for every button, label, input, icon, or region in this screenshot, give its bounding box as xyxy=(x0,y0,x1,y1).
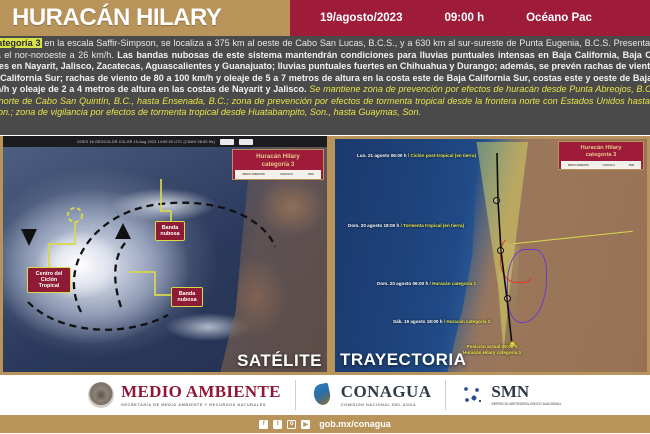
footer-website-url[interactable]: gob.mx/conagua xyxy=(319,419,391,429)
semarnat-logo: MEDIO AMBIENTE SECRETARÍA DE MEDIO AMBIE… xyxy=(74,382,295,408)
page-header: HURACÁN HILARY 19/agosto/2023 09:00 h Oc… xyxy=(0,0,650,36)
trajectory-badge-name: Huracán Hilary xyxy=(561,145,641,152)
track-label-4: Sáb. 19 agosto 18:00 h / Huracán categor… xyxy=(393,319,490,325)
satellite-source-text: GOES 16 GEOCOLOR COLOR 19-Aug 2023 14:50… xyxy=(77,140,215,144)
instagram-icon[interactable]: o xyxy=(287,420,296,429)
header-date: 19/agosto/2023 xyxy=(320,12,402,24)
satellite-badge: Huracán Hilary categoría 3 MEDIO AMBIENT… xyxy=(232,149,324,180)
category-highlight: huracán categoría 3 xyxy=(0,38,42,48)
callout-leaders xyxy=(3,147,329,373)
page-footer: MEDIO AMBIENTE SECRETARÍA DE MEDIO AMBIE… xyxy=(0,375,650,433)
current-position-category: Huracán Hilary categoría 3 xyxy=(463,350,521,356)
track-point-1 xyxy=(493,197,500,204)
satellite-badge-logos: MEDIO AMBIENTE CONAGUA SMN xyxy=(235,170,321,179)
badge-logo-smn: SMN xyxy=(308,173,314,176)
satellite-badge-category: categoría 3 xyxy=(235,161,321,169)
header-title-block: HURACÁN HILARY xyxy=(0,0,290,36)
page-title: HURACÁN HILARY xyxy=(12,4,221,32)
imagery-panels: Centro del Ciclón Tropical Banda nubosa … xyxy=(0,135,650,375)
track-label-3-status: Huracán categoría 1 xyxy=(432,281,476,286)
mexican-eagle-seal-icon xyxy=(88,382,114,408)
track-label-1: Lun. 21 agosto 06:00 h / Ciclón post-tro… xyxy=(357,153,476,159)
header-basin: Océano Pac xyxy=(526,12,592,24)
twitter-icon[interactable]: t xyxy=(273,420,282,429)
facebook-icon[interactable]: f xyxy=(259,420,268,429)
track-point-3 xyxy=(504,295,511,302)
header-time: 09:00 h xyxy=(444,12,484,24)
trajectory-badge-category: categoría 3 xyxy=(561,152,641,159)
smn-small-logo-icon xyxy=(239,139,253,145)
track-label-2-status: Tormenta tropical (en tierra) xyxy=(403,223,464,228)
callout-centro-ciclon: Centro del Ciclón Tropical xyxy=(27,267,71,293)
satellite-image: Centro del Ciclón Tropical Banda nubosa … xyxy=(3,147,327,372)
track-point-2 xyxy=(497,247,504,254)
conagua-subtitle: COMISIÓN NACIONAL DEL AGUA xyxy=(341,402,432,407)
smn-cloud-dots-icon xyxy=(460,383,484,407)
tbadge-logo-conagua: CONAGUA xyxy=(603,164,615,167)
track-label-2-time: Dom. 20 agosto 18:00 h xyxy=(348,223,399,228)
track-label-3-time: Dom. 20 agosto 06:00 h xyxy=(377,281,428,286)
bulletin-paragraph: ora como huracán categoría 3 en la escal… xyxy=(0,38,650,119)
semarnat-name: MEDIO AMBIENTE xyxy=(121,383,281,401)
current-position-time: Posición actual 09:00 h xyxy=(463,344,521,350)
smn-logo: SMN SERVICIO METEOROLÓGICO NACIONAL xyxy=(446,383,575,407)
tbadge-logo-semarnat: MEDIO AMBIENTE xyxy=(568,164,589,167)
satellite-source-bar: GOES 16 GEOCOLOR COLOR 19-Aug 2023 14:50… xyxy=(3,136,327,147)
semarnat-subtitle: SECRETARÍA DE MEDIO AMBIENTE Y RECURSOS … xyxy=(121,402,281,407)
callout-banda-nubosa-sur: Banda nubosa xyxy=(171,287,203,307)
satellite-badge-name: Huracán Hilary xyxy=(235,153,321,161)
footer-logo-row: MEDIO AMBIENTE SECRETARÍA DE MEDIO AMBIE… xyxy=(0,375,650,415)
track-label-1-status: Ciclón post-tropical (en tierra) xyxy=(410,153,476,158)
tbadge-logo-smn: SMN xyxy=(629,164,634,167)
bulletin-text-block: ora como huracán categoría 3 en la escal… xyxy=(0,36,650,135)
callout-banda-nubosa-norte: Banda nubosa xyxy=(155,221,185,241)
track-label-3: Dom. 20 agosto 06:00 h / Huracán categor… xyxy=(377,281,476,287)
footer-social-bar: f t o ▶ gob.mx/conagua xyxy=(0,415,650,433)
header-meta-block: 19/agosto/2023 09:00 h Océano Pac xyxy=(290,0,650,36)
trajectory-badge-logos: MEDIO AMBIENTE CONAGUA SMN xyxy=(561,161,641,169)
track-label-2: Dom. 20 agosto 18:00 h / Tormenta tropic… xyxy=(348,223,464,229)
track-label-4-time: Sáb. 19 agosto 18:00 h xyxy=(393,319,443,324)
satellite-panel[interactable]: Centro del Ciclón Tropical Banda nubosa … xyxy=(0,136,332,375)
youtube-icon[interactable]: ▶ xyxy=(301,420,310,429)
water-drop-icon xyxy=(310,382,334,408)
track-path xyxy=(335,139,647,367)
conagua-logo: CONAGUA COMISIÓN NACIONAL DEL AGUA xyxy=(296,382,446,408)
track-label-4-status: Huracán categoría 2 xyxy=(446,319,490,324)
conagua-small-logo-icon xyxy=(220,139,234,145)
smn-name: SMN xyxy=(491,383,561,401)
badge-logo-conagua: CONAGUA xyxy=(280,173,293,176)
conagua-name: CONAGUA xyxy=(341,383,432,401)
track-label-current: Posición actual 09:00 h Huracán Hilary c… xyxy=(463,344,521,355)
trajectory-badge: Huracán Hilary categoría 3 MEDIO AMBIENT… xyxy=(558,141,644,170)
satellite-panel-title: SATÉLITE xyxy=(237,351,322,371)
trajectory-panel-title: TRAYECTORIA xyxy=(340,350,466,370)
badge-logo-semarnat: MEDIO AMBIENTE xyxy=(242,173,265,176)
trajectory-map-image: Lun. 21 agosto 06:00 h / Ciclón post-tro… xyxy=(335,139,647,372)
smn-subtitle: SERVICIO METEOROLÓGICO NACIONAL xyxy=(491,402,561,406)
track-label-1-time: Lun. 21 agosto 06:00 h xyxy=(357,153,407,158)
trajectory-panel[interactable]: Lun. 21 agosto 06:00 h / Ciclón post-tro… xyxy=(332,136,650,375)
